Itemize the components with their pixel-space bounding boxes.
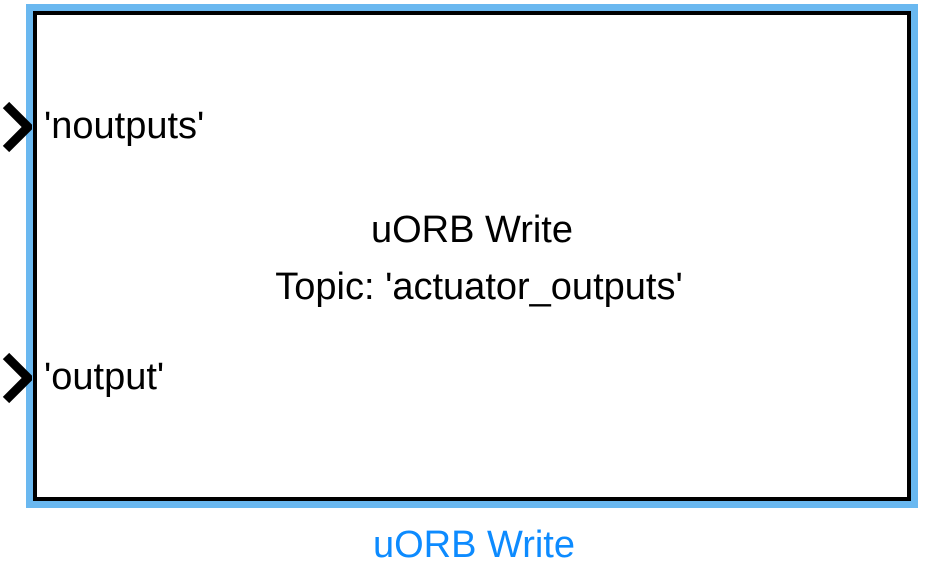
chevron-right-icon [2,352,32,404]
block-topic-text: Topic: 'actuator_outputs' [0,268,926,306]
diagram-canvas: 'noutputs' 'output' uORB Write Topic: 'a… [0,0,926,573]
input-port-noutputs[interactable] [2,101,32,153]
input-port-label-output: 'output' [44,358,164,396]
block-title-text: uORB Write [0,211,926,249]
chevron-right-icon [2,101,32,153]
input-port-output[interactable] [2,352,32,404]
input-port-label-noutputs: 'noutputs' [44,107,204,145]
block-name-label[interactable]: uORB Write [0,526,926,564]
uorb-write-block[interactable] [33,11,911,501]
